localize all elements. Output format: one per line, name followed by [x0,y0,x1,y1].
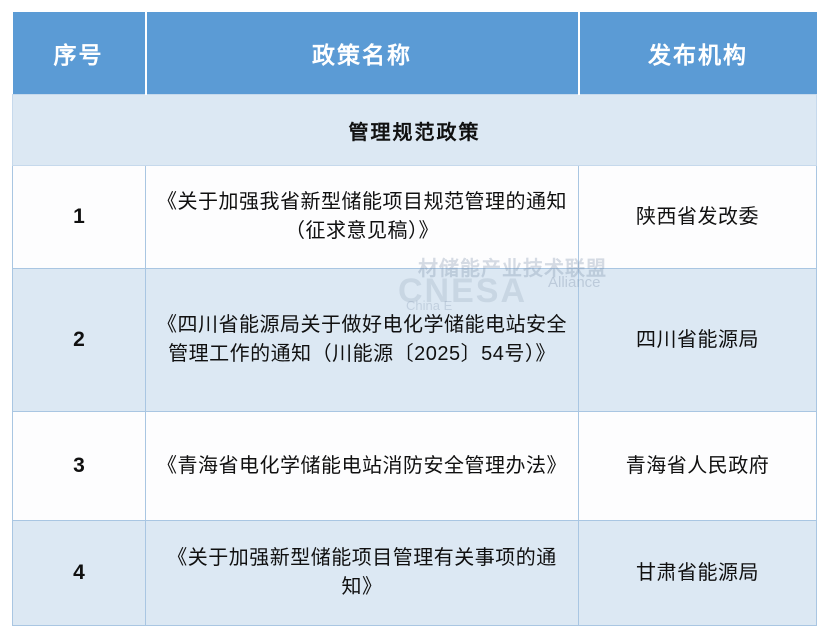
section-header-row: 管理规范政策 [13,95,817,166]
cell-org: 青海省人民政府 [579,412,817,521]
cell-seq: 3 [13,412,146,521]
table-row[interactable]: 3 《青海省电化学储能电站消防安全管理办法》 青海省人民政府 [13,412,817,521]
cell-seq: 4 [13,521,146,626]
table-row[interactable]: 2 《四川省能源局关于做好电化学储能电站安全管理工作的通知（川能源〔2025〕5… [13,269,817,412]
cell-org: 陕西省发改委 [579,166,817,269]
table-section-header: 管理规范政策 [13,95,817,166]
table-body: 1 《关于加强我省新型储能项目规范管理的通知（征求意见稿）》 陕西省发改委 2 … [13,166,817,626]
cell-org: 甘肃省能源局 [579,521,817,626]
policy-table: 序号 政策名称 发布机构 管理规范政策 1 《关于加强我省新型储能项目规范管理的… [12,12,817,626]
column-header-seq: 序号 [13,12,146,95]
column-header-org: 发布机构 [579,12,817,95]
section-title: 管理规范政策 [13,95,817,166]
header-row: 序号 政策名称 发布机构 [13,12,817,95]
table-header: 序号 政策名称 发布机构 [13,12,817,95]
cell-seq: 1 [13,166,146,269]
cell-seq: 2 [13,269,146,412]
table-row[interactable]: 4 《关于加强新型储能项目管理有关事项的通知》 甘肃省能源局 [13,521,817,626]
cell-name: 《青海省电化学储能电站消防安全管理办法》 [146,412,579,521]
cell-name: 《关于加强新型储能项目管理有关事项的通知》 [146,521,579,626]
table-row[interactable]: 1 《关于加强我省新型储能项目规范管理的通知（征求意见稿）》 陕西省发改委 [13,166,817,269]
cell-name: 《四川省能源局关于做好电化学储能电站安全管理工作的通知（川能源〔2025〕54号… [146,269,579,412]
cell-org: 四川省能源局 [579,269,817,412]
policy-table-page: 材储能产业技术联盟 CNESA Alliance China E 序号 政策名称… [0,0,826,594]
column-header-name: 政策名称 [146,12,579,95]
cell-name: 《关于加强我省新型储能项目规范管理的通知（征求意见稿）》 [146,166,579,269]
